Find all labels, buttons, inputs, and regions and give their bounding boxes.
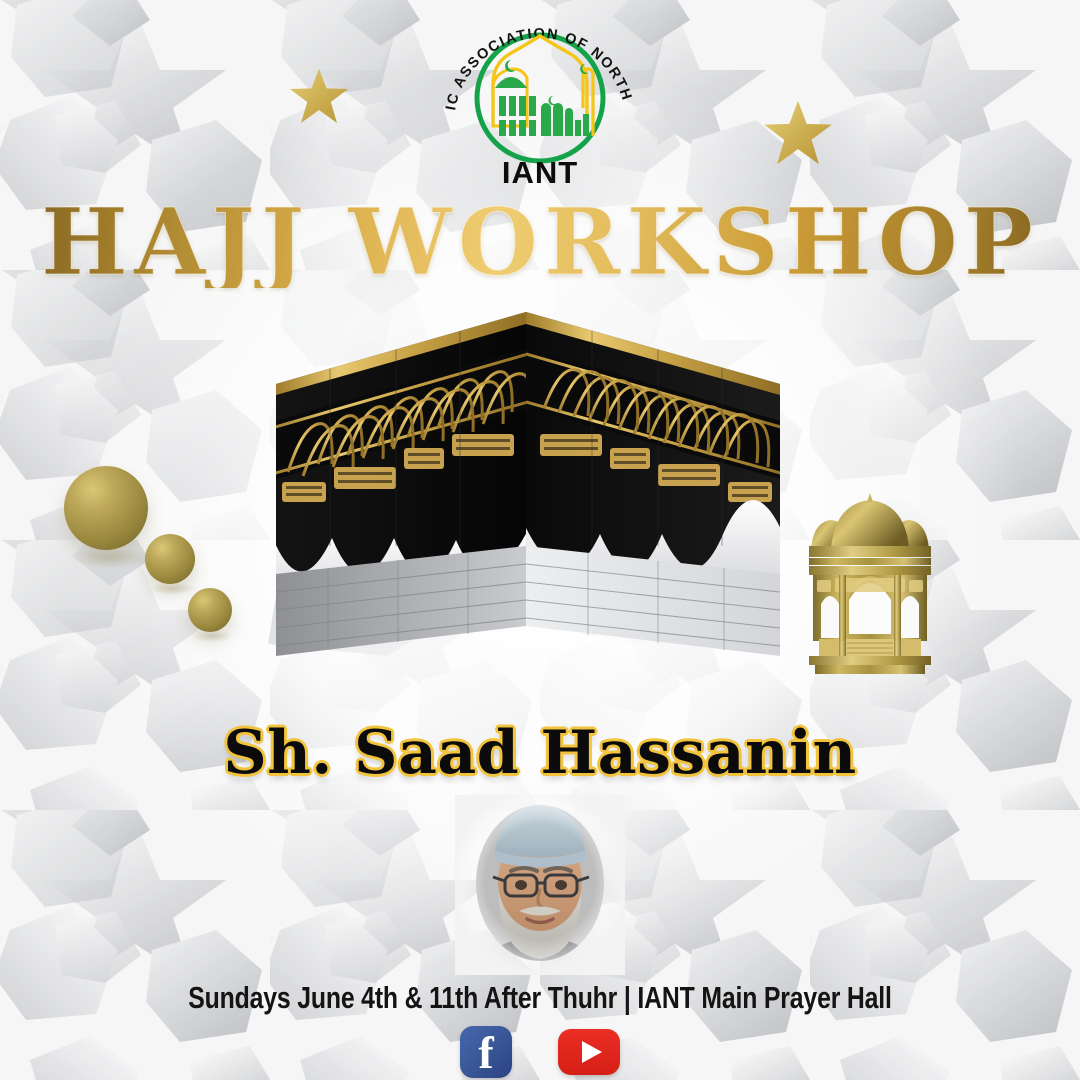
gold-sphere-large	[64, 466, 148, 550]
facebook-icon[interactable]: f	[460, 1026, 512, 1078]
iant-logo: ISLAMIC ASSOCIATION OF NORTH TEXAS	[435, 8, 645, 193]
youtube-icon[interactable]	[558, 1029, 620, 1075]
hajj-workshop-poster: ISLAMIC ASSOCIATION OF NORTH TEXAS	[0, 0, 1080, 1080]
gold-star-left	[288, 66, 350, 128]
kaaba-illustration	[268, 296, 788, 696]
facebook-glyph: f	[460, 1028, 512, 1078]
gold-sphere-medium	[145, 534, 195, 584]
social-links: f	[0, 1026, 1080, 1078]
gold-lantern-ornament	[795, 492, 945, 677]
logo-acronym: IANT	[502, 155, 578, 190]
gold-star-right	[762, 98, 834, 170]
page-title: HAJJ WORKSHOP	[0, 196, 1080, 288]
speaker-portrait-photo	[455, 795, 625, 975]
gold-sphere-small	[188, 588, 232, 632]
event-details: Sundays June 4th & 11th After Thuhr | IA…	[108, 980, 972, 1016]
youtube-play-triangle	[582, 1041, 602, 1063]
iant-mosque-logo: ISLAMIC ASSOCIATION OF NORTH TEXAS	[435, 8, 645, 193]
speaker-name: Sh. Saad Hassanin	[0, 718, 1080, 788]
